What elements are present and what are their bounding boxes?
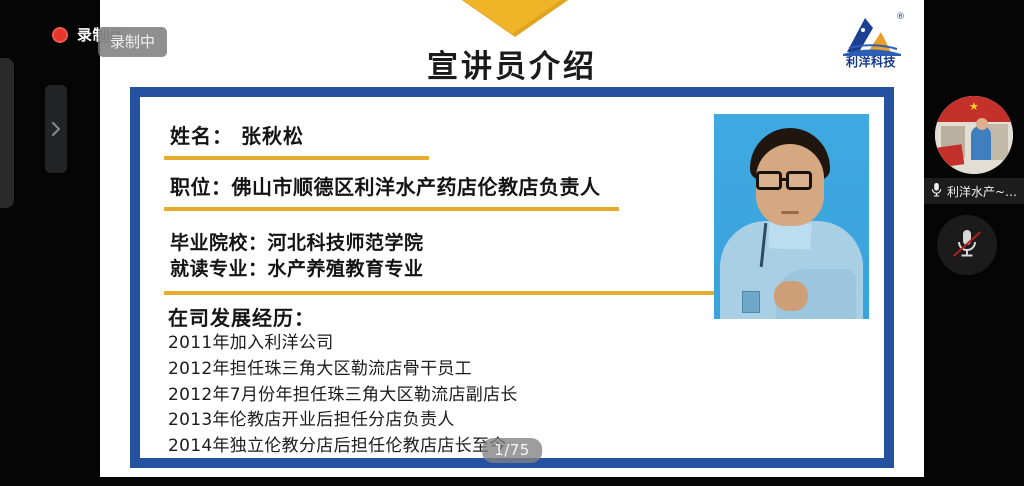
history-title: 在司发展经历：: [168, 302, 315, 331]
slide-title: 宣讲员介绍: [100, 41, 924, 86]
list-item: 2013年伦教店开业后担任分店负责人: [168, 408, 518, 434]
left-panel-peek: [0, 58, 14, 208]
list-item: 2014年独立伦教分店后担任伦教店店长至今: [168, 434, 518, 460]
list-item: 2012年7月份年担任珠三角大区勒流店副店长: [168, 383, 518, 409]
record-dot-icon: [52, 27, 68, 43]
logo-text: 利洋科技: [846, 56, 896, 68]
position-line: 职位：佛山市顺德区利洋水产药店伦教店负责人: [170, 171, 601, 200]
history-list: 2011年加入利洋公司 2012年担任珠三角大区勒流店骨干员工 2012年7月份…: [168, 331, 518, 460]
recording-toast: 录制中: [98, 27, 167, 57]
participant-name-bar: 利洋水产~…: [924, 178, 1024, 204]
education-block: 毕业院校：河北科技师范学院 就读专业：水产养殖教育专业: [170, 231, 424, 282]
list-item: 2012年担任珠三角大区勒流店骨干员工: [168, 357, 518, 383]
list-item: 2011年加入利洋公司: [168, 331, 518, 357]
star-icon: ★: [969, 100, 979, 113]
divider-1: [164, 156, 429, 160]
name-line: 姓名： 张秋松: [170, 120, 304, 149]
meeting-screen: 录制中 录制中 宣讲员介绍 ® 利洋科技 姓名： 张秋松: [0, 0, 1024, 486]
content-frame: 姓名： 张秋松 职位：佛山市顺德区利洋水产药店伦教店负责人 毕业院校：河北科技师…: [130, 87, 894, 468]
microphone-icon: [931, 182, 942, 201]
participant-panel: ★ 利洋水产~…: [924, 0, 1024, 486]
divider-3: [164, 291, 734, 295]
expand-panel-handle[interactable]: [45, 85, 67, 173]
mute-toggle-button[interactable]: [937, 215, 997, 275]
chevron-decoration: [420, 0, 604, 34]
avatar[interactable]: ★: [935, 96, 1013, 174]
presentation-slide[interactable]: 宣讲员介绍 ® 利洋科技 姓名： 张秋松 职位：佛山市顺德区利洋水产药店伦教店负…: [100, 0, 924, 477]
education-major: 就读专业：水产养殖教育专业: [170, 257, 424, 283]
company-logo: ® 利洋科技: [828, 2, 914, 70]
logo-mark-icon: ®: [835, 12, 907, 56]
education-school: 毕业院校：河北科技师范学院: [170, 231, 424, 257]
registered-mark: ®: [896, 12, 905, 22]
chevron-right-icon: [51, 121, 61, 137]
speaker-portrait-photo: [714, 114, 869, 319]
divider-2: [164, 207, 619, 211]
participant-name: 利洋水产~…: [947, 183, 1017, 200]
page-indicator: 1/75: [482, 438, 542, 463]
